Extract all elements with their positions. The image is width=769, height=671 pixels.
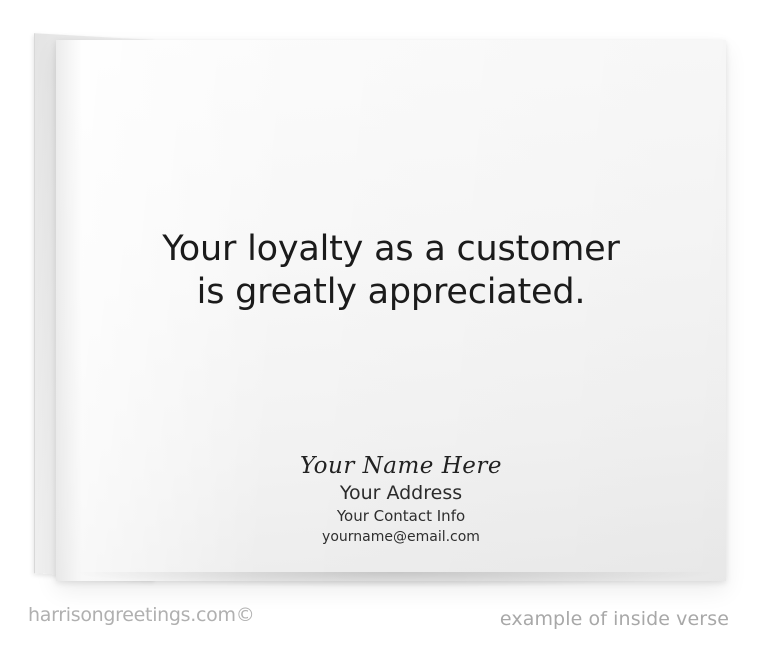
signature-name: Your Name Here: [216, 452, 586, 480]
signature-email: yourname@email.com: [216, 527, 586, 547]
example-caption: example of inside verse: [500, 608, 729, 630]
card-verse-text: Your loyalty as a customer is greatly ap…: [56, 228, 726, 314]
signature-address: Your Address: [216, 480, 586, 506]
greeting-card-scene: Your loyalty as a customer is greatly ap…: [0, 0, 769, 671]
site-watermark: harrisongreetings.com©: [28, 604, 254, 626]
signature-block: Your Name Here Your Address Your Contact…: [216, 452, 586, 547]
signature-contact-info: Your Contact Info: [216, 506, 586, 527]
